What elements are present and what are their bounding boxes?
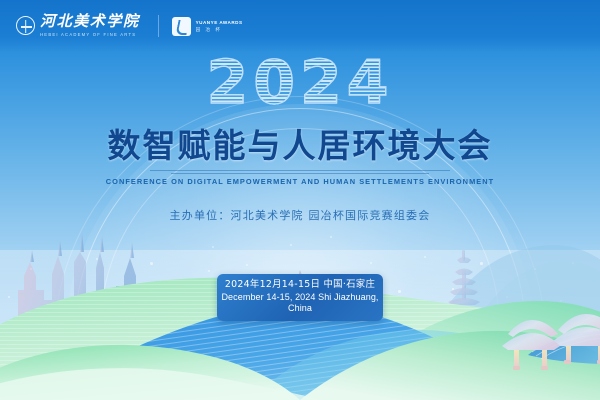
header-divider <box>158 15 159 37</box>
logo-yuanye-award[interactable]: YUANYE AWARDS 园 冶 杯 <box>172 17 243 36</box>
logo-primary-name-en: HEBEI ACADEMY OF FINE ARTS <box>40 33 140 37</box>
logo-secondary-name-en: YUANYE AWARDS <box>196 20 243 26</box>
conference-poster: 河北美术学院 HEBEI ACADEMY OF FINE ARTS YUANYE… <box>0 0 600 400</box>
scenery-foreground <box>0 0 600 400</box>
event-date-cn: 2024年12月14-15日 中国·石家庄 <box>217 279 383 292</box>
header-bar: 河北美术学院 HEBEI ACADEMY OF FINE ARTS YUANYE… <box>0 0 600 52</box>
event-date-badge: 2024年12月14-15日 中国·石家庄 December 14-15, 20… <box>217 274 383 321</box>
logo-secondary-name-cn: 园 冶 杯 <box>196 27 243 33</box>
event-date-en: December 14-15, 2024 Shi Jiazhuang, Chin… <box>217 292 383 315</box>
logo-hebei-academy[interactable]: 河北美术学院 HEBEI ACADEMY OF FINE ARTS <box>16 15 140 37</box>
hebei-academy-seal-icon <box>16 16 35 35</box>
logo-primary-name-cn: 河北美术学院 <box>40 15 140 30</box>
yuanye-award-mark-icon <box>172 17 191 36</box>
